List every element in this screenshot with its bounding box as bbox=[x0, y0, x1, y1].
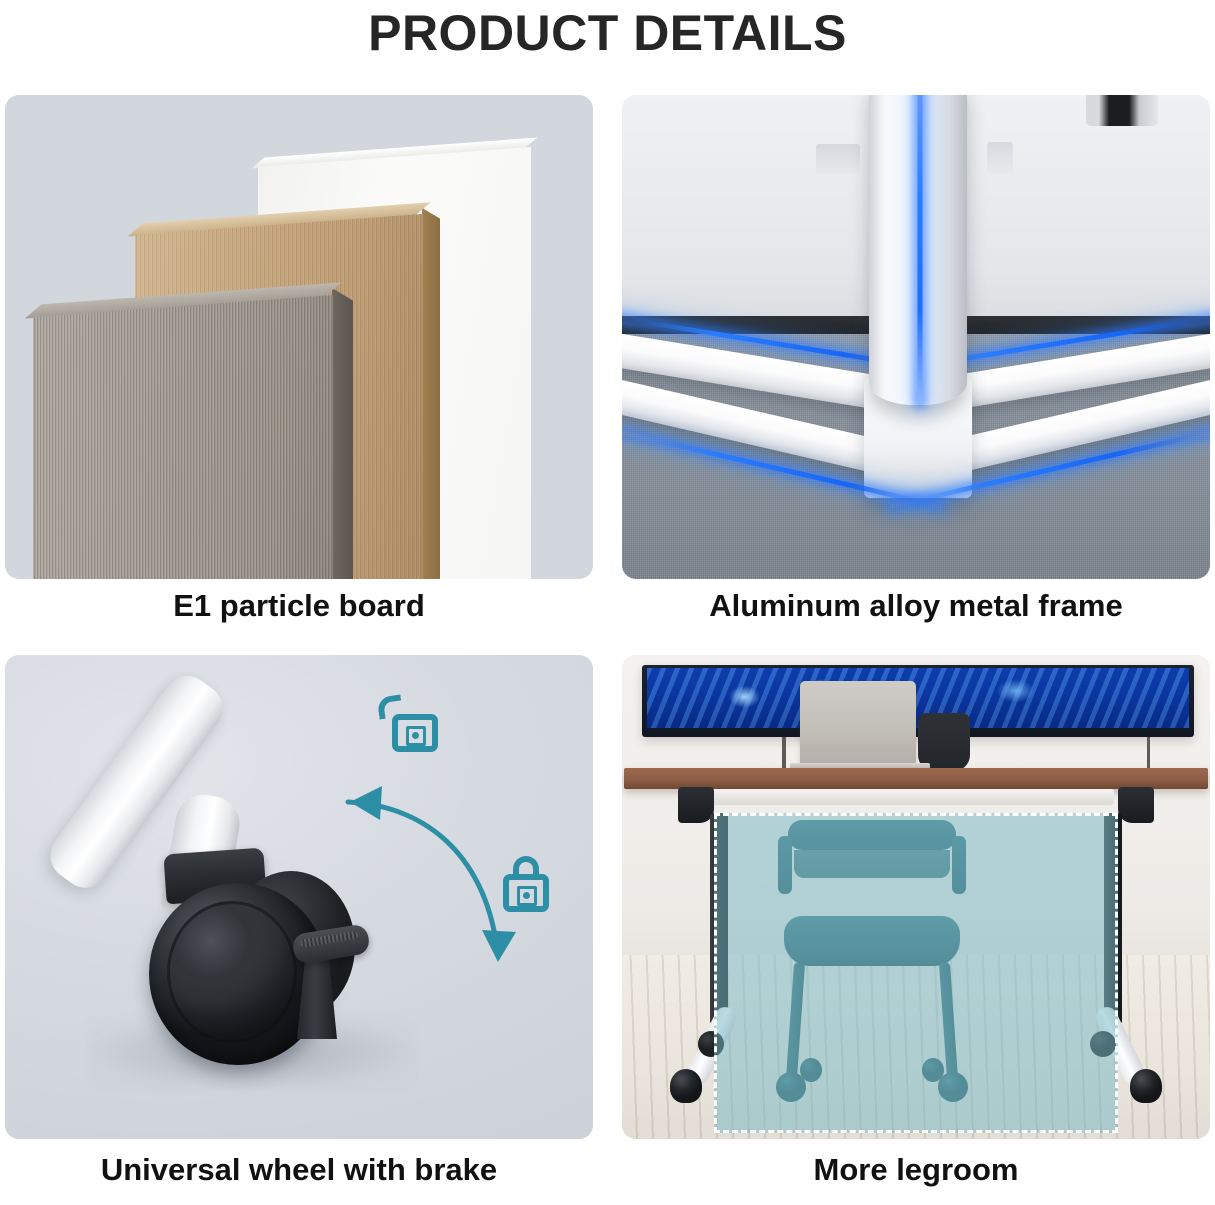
panel-aluminum-frame[interactable] bbox=[622, 95, 1210, 579]
legroom-highlight-zone bbox=[714, 813, 1118, 1133]
desktop-surface bbox=[624, 768, 1208, 789]
board-stack-scene bbox=[5, 95, 593, 579]
desk-caster-left bbox=[670, 1069, 702, 1103]
curved-double-arrow-icon bbox=[320, 780, 540, 1000]
caption-more-legroom: More legroom bbox=[622, 1150, 1210, 1190]
panel-more-legroom[interactable] bbox=[622, 655, 1210, 1139]
wall-shadow-mark bbox=[816, 144, 860, 174]
caption-e1-particle-board: E1 particle board bbox=[5, 586, 593, 626]
caster-wheel-hub bbox=[167, 901, 297, 1043]
wall-shadow-mark-2 bbox=[987, 142, 1013, 174]
laptop bbox=[800, 681, 916, 765]
desk-bracket-right bbox=[1118, 787, 1154, 823]
gray-board-side-edge bbox=[332, 288, 353, 579]
desk-caster-right bbox=[1130, 1069, 1162, 1103]
center-post bbox=[869, 95, 967, 405]
post-blue-glow-line bbox=[917, 95, 922, 405]
page-title: PRODUCT DETAILS bbox=[0, 2, 1215, 64]
background-device bbox=[1086, 95, 1158, 126]
gray-woodgrain-board bbox=[33, 295, 333, 579]
unlock-body bbox=[392, 714, 438, 752]
oak-board-side-edge bbox=[422, 208, 440, 579]
gray-board-face bbox=[33, 295, 333, 579]
panel-e1-particle-board[interactable] bbox=[5, 95, 593, 579]
caption-universal-wheel: Universal wheel with brake bbox=[5, 1150, 593, 1190]
caption-aluminum-frame: Aluminum alloy metal frame bbox=[622, 586, 1210, 626]
desk-bracket-left bbox=[678, 787, 714, 823]
desk-apron bbox=[684, 789, 1114, 805]
